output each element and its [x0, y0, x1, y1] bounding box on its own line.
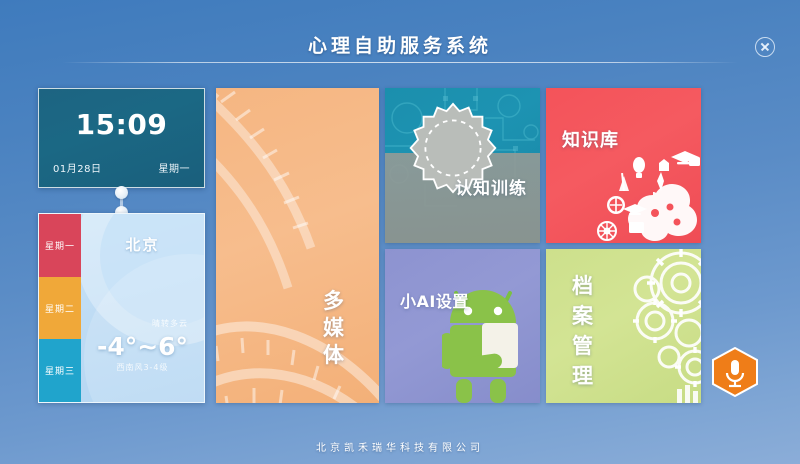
weather-city-name: 北京: [81, 234, 204, 255]
clock-widget[interactable]: 15:09 01月28日 星期一: [38, 88, 205, 188]
weather-detail-panel: 北京 晴转多云 -4°~6° 西南风3-4级: [81, 214, 204, 402]
tile-cognitive-training[interactable]: 认知训练: [385, 88, 540, 243]
tile-label-archive-management: 档案管理: [568, 271, 598, 391]
widget-connector-dot-top: [115, 186, 128, 199]
weather-condition: 晴转多云: [152, 318, 188, 329]
weather-widget[interactable]: 星期一 星期二 星期三 北京 晴转多云 -4°~6° 西南风3-4级: [38, 213, 205, 403]
brain-icon: [591, 143, 701, 243]
weather-day-tabs: 星期一 星期二 星期三: [39, 214, 81, 402]
tile-label-knowledge-base: 知识库: [562, 126, 619, 152]
header-divider: [62, 62, 738, 63]
weather-day-label: 星期二: [45, 302, 75, 315]
weather-wind-detail: 西南风3-4级: [81, 362, 204, 373]
tile-knowledge-base[interactable]: 知识库: [546, 88, 701, 243]
tile-label-cognitive-training: 认知训练: [455, 174, 527, 199]
clock-weekday: 星期一: [159, 160, 191, 175]
page-title: 心理自助服务系统: [0, 31, 800, 58]
weather-temperature: -4°~6°: [81, 332, 204, 361]
clock-date: 01月28日: [53, 160, 101, 175]
footer-company-name: 北京凯禾瑞华科技有限公司: [0, 439, 800, 454]
gears-icon: [611, 249, 701, 403]
weather-day-tab-monday[interactable]: 星期一: [39, 214, 81, 277]
film-strip-icon: [216, 88, 379, 403]
tile-multimedia[interactable]: 多媒体: [216, 88, 379, 403]
weather-day-label: 星期一: [45, 239, 75, 252]
microphone-button[interactable]: [710, 347, 760, 397]
tile-label-multimedia: 多媒体: [317, 288, 351, 369]
tile-label-ai-settings: 小AI设置: [400, 288, 469, 312]
app-header: 心理自助服务系统: [0, 0, 800, 66]
weather-day-tab-wednesday[interactable]: 星期三: [39, 339, 81, 402]
close-icon[interactable]: [755, 37, 775, 57]
tile-ai-settings[interactable]: 小AI设置: [385, 249, 540, 403]
microphone-icon: [710, 347, 760, 397]
weather-day-tab-tuesday[interactable]: 星期二: [39, 277, 81, 340]
tile-archive-management[interactable]: 档案管理: [546, 249, 701, 403]
weather-day-label: 星期三: [45, 364, 75, 377]
clock-time: 15:09: [39, 108, 204, 141]
